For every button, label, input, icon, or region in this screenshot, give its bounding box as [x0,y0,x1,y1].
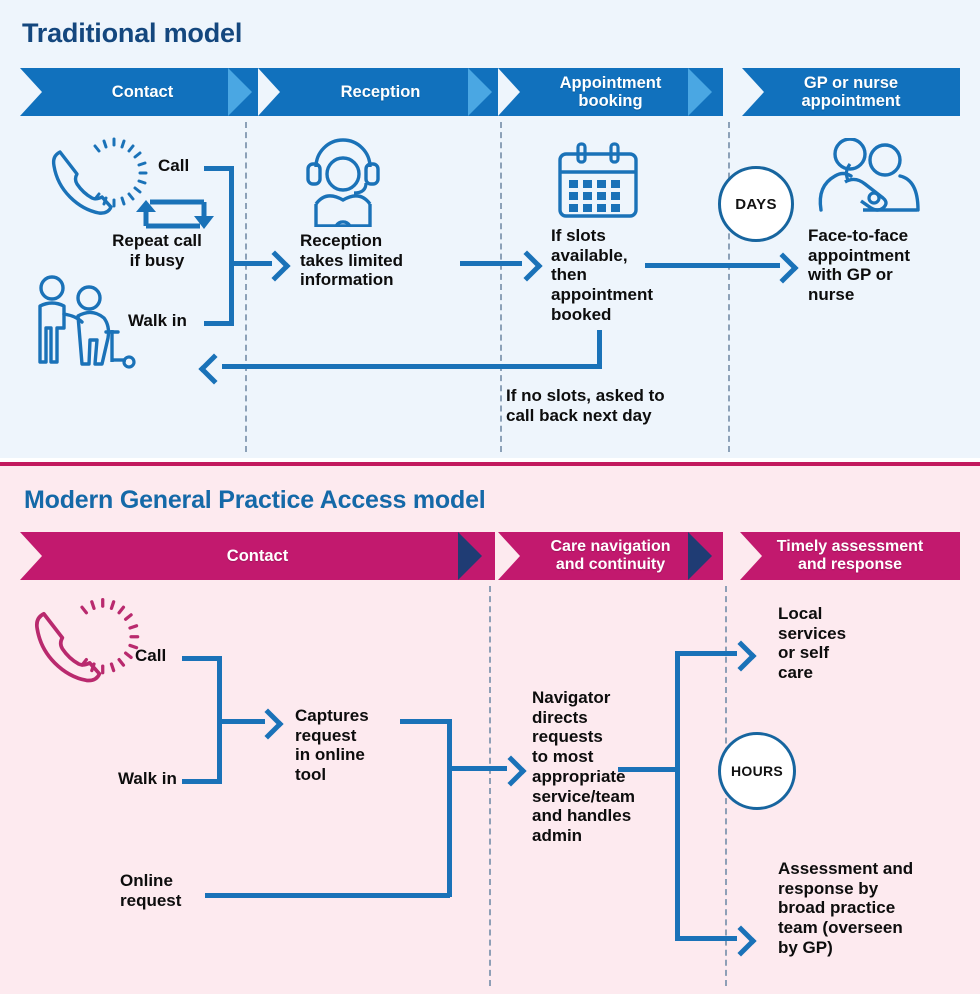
lane-separator-1 [245,122,247,452]
page-title-traditional: Traditional model [22,18,242,49]
modern-stage-bar-care-navigation-label-2: and continuity [556,556,665,573]
gp-examining-patient-icon [805,138,925,220]
calendar-icon [556,142,640,220]
modern-flow-arrow-to-captures-icon [252,708,283,739]
modern-flow-captures-vertical [447,719,452,897]
modern-flow-call-line [182,656,222,661]
stage-bar-appointment-booking-label-1: Appointment [560,74,662,92]
modern-stage-notch-3-icon [740,532,762,580]
modern-label-captures-text: Captures request in online tool [295,706,415,785]
modern-label-local-services: Local services or self care [778,604,888,683]
stage-bar-reception-label: Reception [341,83,421,101]
label-outcome-face-to-face: Face-to-face appointment with GP or nurs… [808,226,968,305]
stage-bar-gp-or-nurse-label-1: GP or nurse [804,74,898,92]
modern-label-walk-in: Walk in [118,769,177,789]
modern-flow-arrow-assessment-icon [725,925,756,956]
time-bubble-hours-label: HOURS [731,763,783,779]
stage-notch-1-icon [20,68,42,116]
modern-stage-bar-contact-label: Contact [227,547,288,565]
stage-bar-reception: Reception [258,68,503,116]
modern-stage-bar-timely-assessment-label-1: Timely assessment [777,538,923,555]
stage-chevron-1-icon [228,68,252,116]
modern-flow-online-line [205,893,450,898]
label-no-slots-text: If no slots, asked to call back next day [506,386,736,425]
stage-bar-gp-or-nurse-label-2: appointment [802,92,901,110]
modern-stage-notch-1-icon [20,532,42,580]
modern-lane-separator-1 [489,586,491,986]
label-walk-in: Walk in [128,311,187,331]
modern-flow-arrow-local-services-icon [725,640,756,671]
flow-walkin-line [204,321,234,326]
stage-bar-contact-label: Contact [112,83,173,101]
flow-arrow-to-appointment-icon [767,252,798,283]
modern-label-navigator-text: Navigator directs requests to most appro… [532,688,682,846]
page-title-modern: Modern General Practice Access model [24,486,486,515]
modern-phone-ringing-icon [22,596,142,684]
flow-noslots-horizontal [222,364,602,369]
lane-separator-2 [500,122,502,452]
modern-stage-chevron-1-icon [458,532,482,580]
modern-label-assessment-response: Assessment and response by broad practic… [778,859,963,958]
repeat-loop-icon [130,196,220,234]
carer-with-patient-icon [26,272,142,370]
stage-notch-3-icon [498,68,520,116]
modern-flow-walkin-line [182,779,222,784]
traditional-model-panel: Traditional model Contact Reception Appo… [0,0,980,458]
label-repeat-call: Repeat call if busy [92,231,222,270]
stage-bar-appointment-booking-label-2: booking [578,92,642,110]
stage-bar-gp-or-nurse: GP or nurse appointment [742,68,960,116]
headset-agent-icon [300,137,386,227]
flow-arrow-noslots-back-icon [198,353,229,384]
modern-stage-bar-timely-assessment-label-2: and response [798,556,902,573]
label-call: Call [158,156,189,176]
modern-label-online-request: Online request [120,871,230,910]
time-bubble-days: DAYS [718,166,794,242]
label-booking-text: If slots available, then appointment boo… [551,226,696,325]
modern-stage-bar-care-navigation-label-1: Care navigation [550,538,670,555]
modern-model-panel: Modern General Practice Access model Con… [0,462,980,994]
stage-chevron-3-icon [688,68,712,116]
label-reception-text: Reception takes limited information [300,231,460,290]
modern-label-call: Call [135,646,166,666]
stage-notch-2-icon [258,68,280,116]
stage-chevron-2-icon [468,68,492,116]
modern-stage-bar-timely-assessment: Timely assessment and response [740,532,960,580]
modern-stage-notch-2-icon [498,532,520,580]
modern-stage-chevron-2-icon [688,532,712,580]
infographic-root: Traditional model Contact Reception Appo… [0,0,980,994]
modern-stage-bar-contact: Contact [20,532,495,580]
flow-contact-vertical [229,166,234,326]
flow-arrow-to-reception-icon [259,250,290,281]
stage-notch-4-icon [742,68,764,116]
flow-arrow-to-booking-icon [511,250,542,281]
time-bubble-days-label: DAYS [735,196,777,213]
time-bubble-hours: HOURS [718,732,796,810]
modern-flow-arrow-to-navigator-icon [495,755,526,786]
